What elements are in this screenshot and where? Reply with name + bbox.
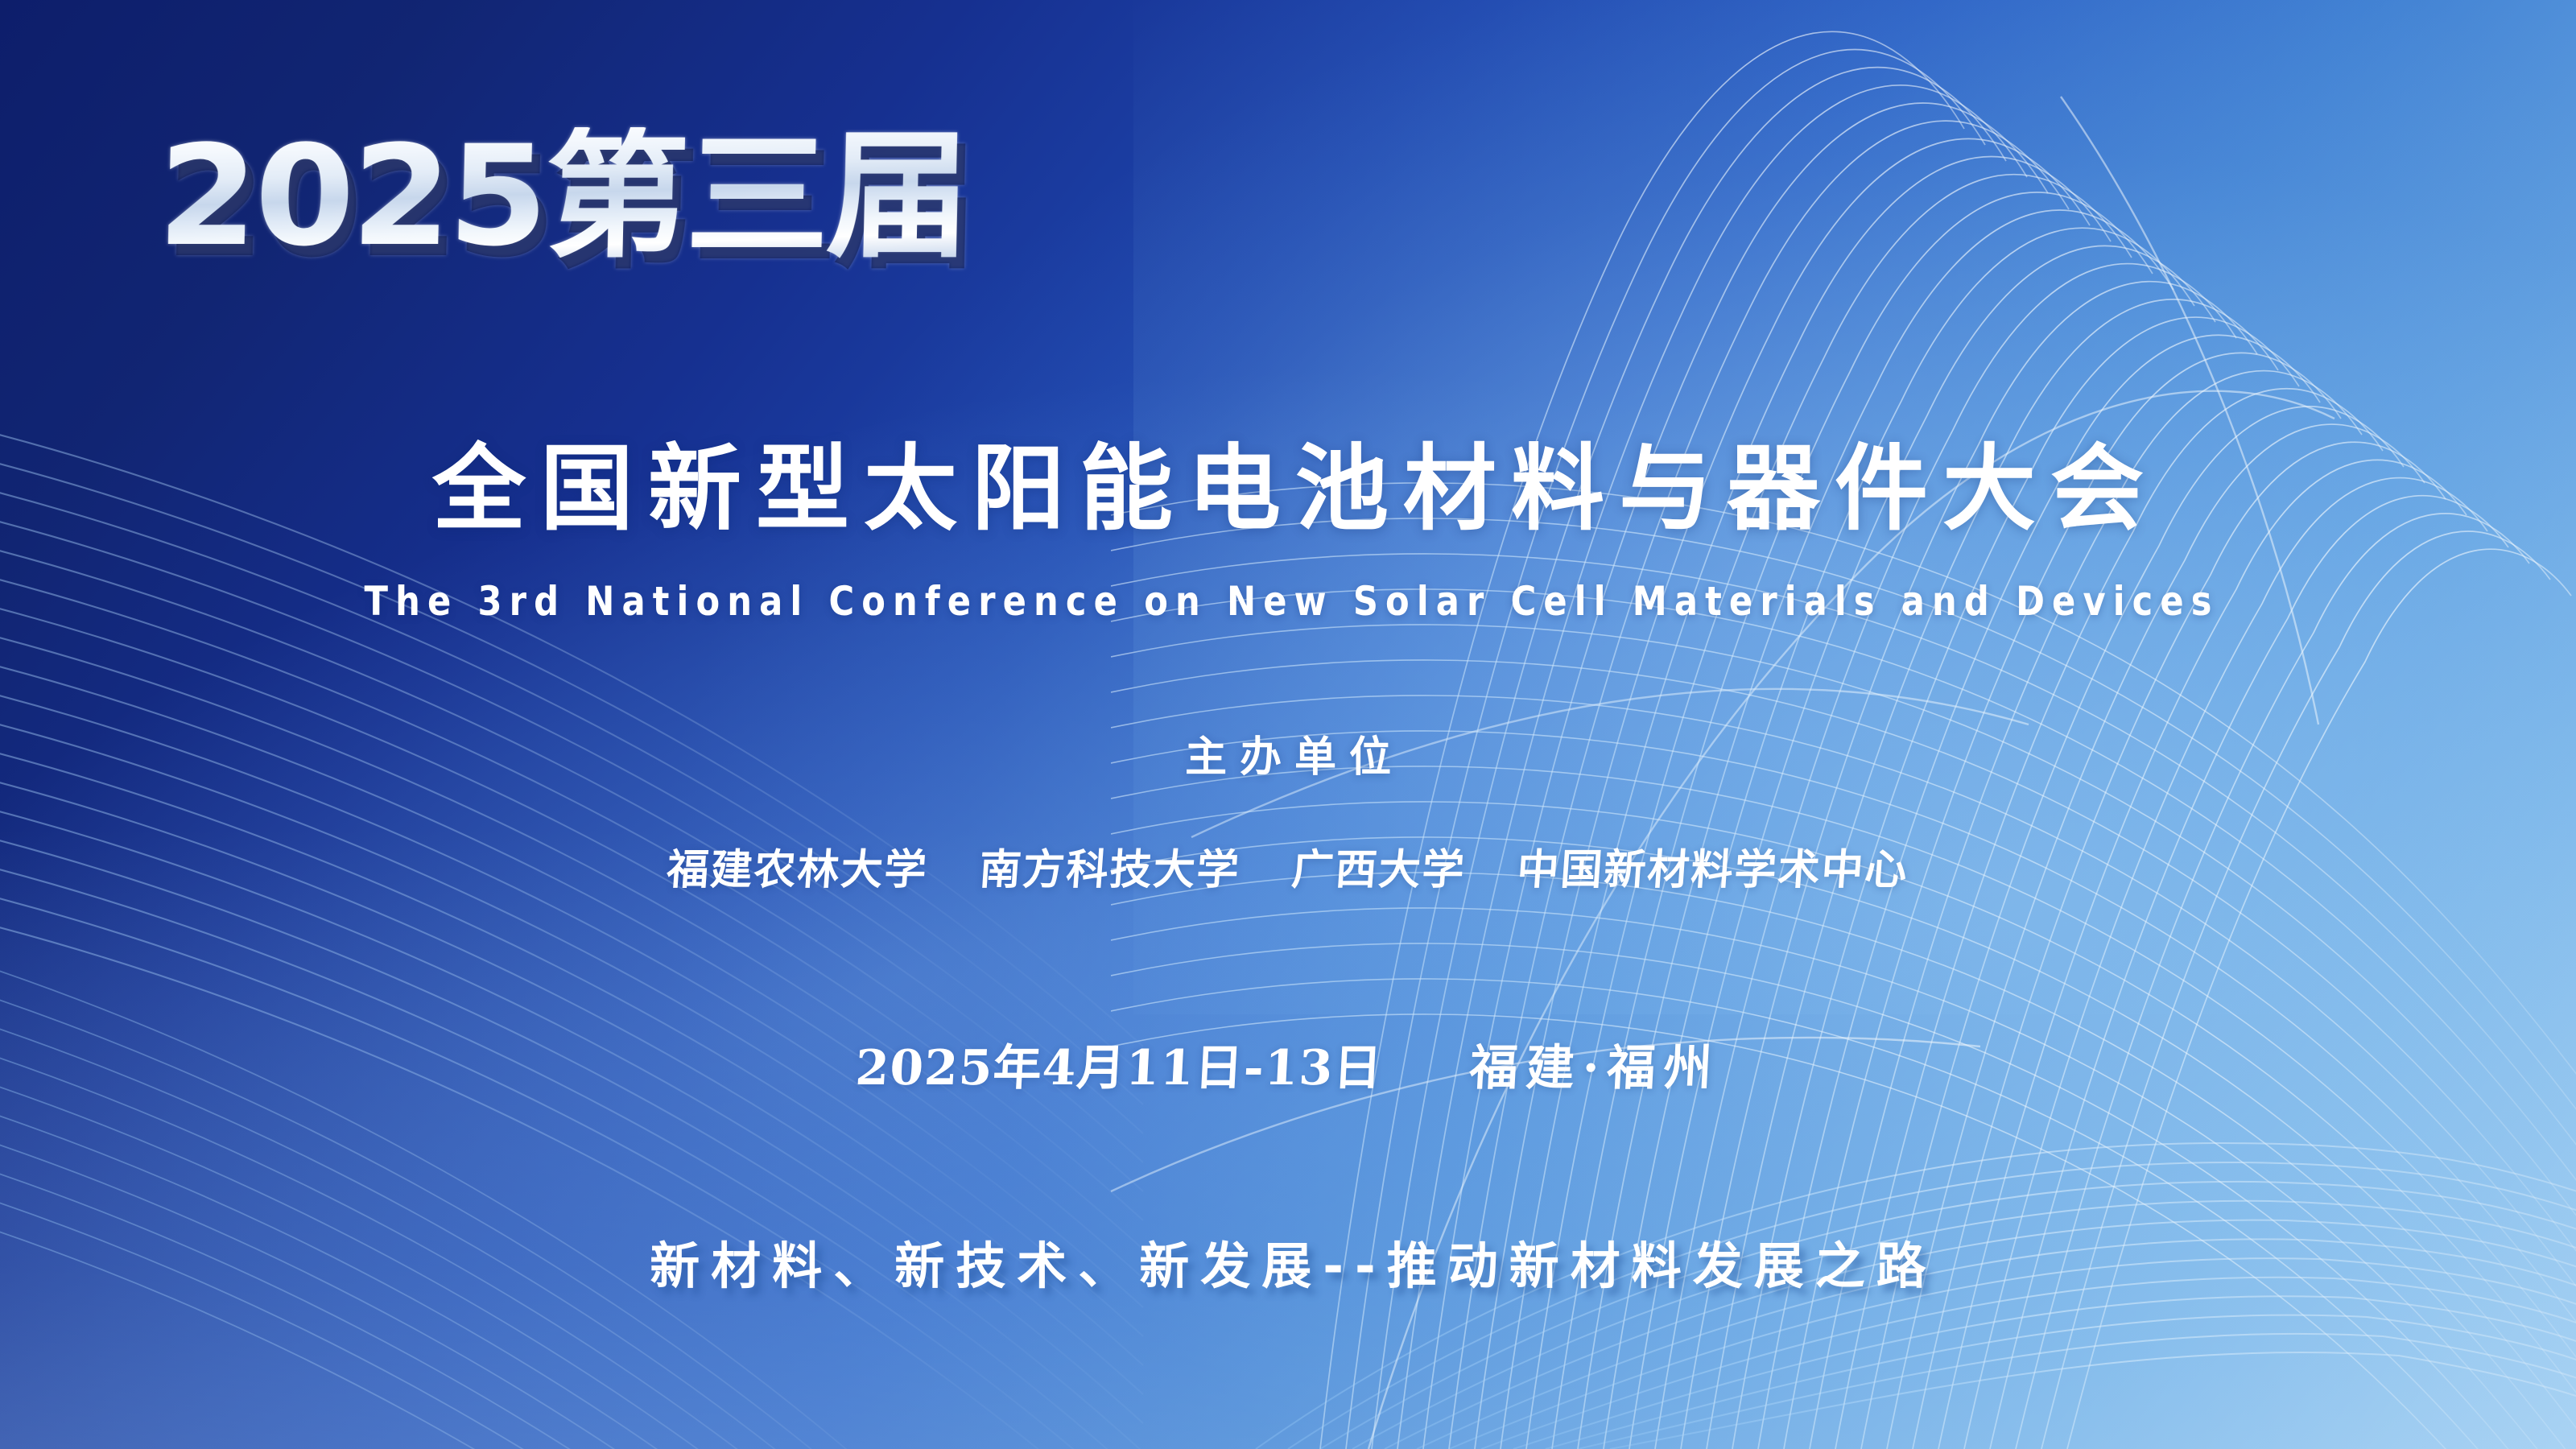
organizer-item: 广西大学 — [1290, 836, 1468, 896]
organizer-list: 福建农林大学 南方科技大学 广西大学 中国新材料学术中心 — [0, 836, 2576, 896]
organizer-heading: 主办单位 — [0, 723, 2576, 783]
date-and-location: 2025年4月11日-13日 福建·福州 — [0, 1029, 2576, 1099]
event-headline: 2025第三届 — [156, 127, 968, 266]
conference-title-en: The 3rd National Conference on New Solar… — [52, 578, 2524, 625]
organizer-item: 中国新材料学术中心 — [1516, 836, 1911, 896]
organizer-item: 南方科技大学 — [977, 836, 1242, 896]
event-location: 福建·福州 — [1468, 1029, 1721, 1099]
event-slogan: 新材料、新技术、新发展--推动新材料发展之路 — [0, 1225, 2576, 1298]
banner-content: 2025第三届 全国新型太阳能电池材料与器件大会 The 3rd Nationa… — [0, 0, 2576, 1449]
conference-title-zh: 全国新型太阳能电池材料与器件大会 — [0, 443, 2576, 536]
organizer-item: 福建农林大学 — [665, 836, 930, 896]
event-date: 2025年4月11日-13日 — [854, 1029, 1385, 1099]
conference-banner: 2025第三届 全国新型太阳能电池材料与器件大会 The 3rd Nationa… — [0, 0, 2576, 1449]
